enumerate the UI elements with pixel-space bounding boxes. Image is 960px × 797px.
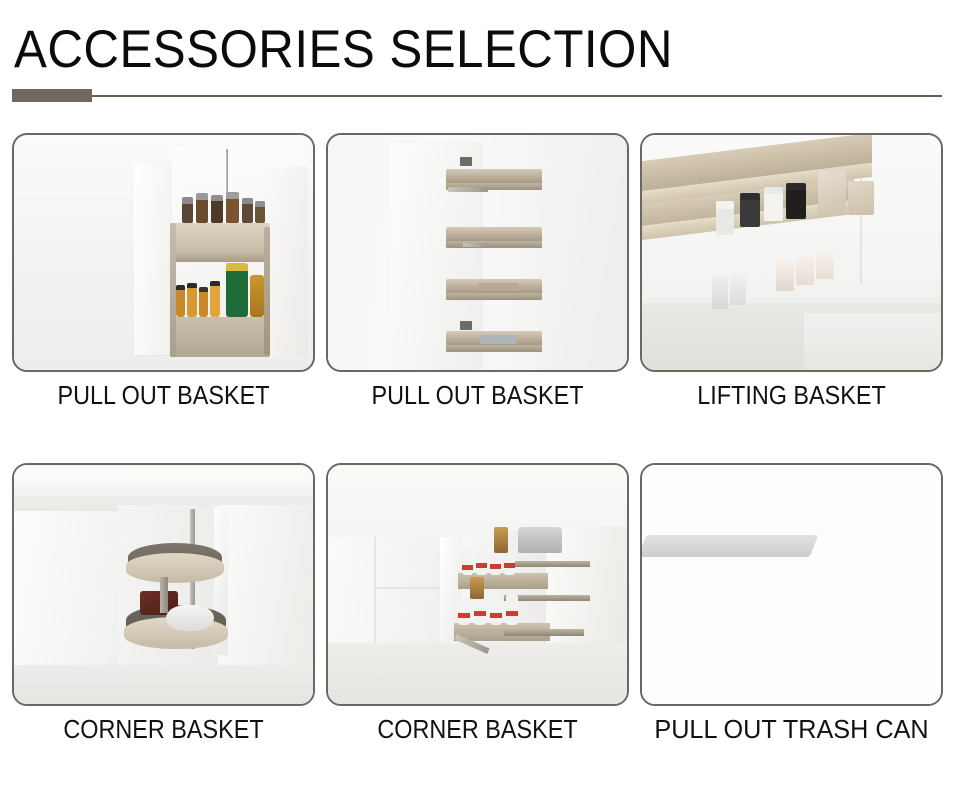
card-pull-out-trash-can[interactable] bbox=[640, 463, 943, 706]
accessory-cell: CORNER BASKET bbox=[12, 463, 315, 746]
card-caption: PULL OUT TRASH CAN bbox=[645, 712, 939, 746]
card-caption: LIFTING BASKET bbox=[655, 378, 928, 412]
gallery-row: CORNER BASKET bbox=[12, 463, 944, 746]
title-divider bbox=[12, 88, 942, 104]
card-pull-out-basket-1[interactable] bbox=[12, 133, 315, 372]
image-lifting-basket bbox=[642, 135, 941, 370]
page-title: ACCESSORIES SELECTION bbox=[14, 20, 673, 80]
accessories-grid: PULL OUT BASKET bbox=[12, 133, 944, 746]
gallery-row: PULL OUT BASKET bbox=[12, 133, 944, 412]
image-corner-basket-2 bbox=[328, 465, 627, 704]
accessory-cell: PULL OUT BASKET bbox=[326, 133, 629, 412]
card-caption: CORNER BASKET bbox=[27, 712, 300, 746]
image-pull-out-basket-1 bbox=[14, 135, 313, 370]
accessory-cell: LIFTING BASKET bbox=[640, 133, 943, 412]
card-caption: PULL OUT BASKET bbox=[341, 378, 614, 412]
accessory-cell: CORNER BASKET bbox=[326, 463, 629, 746]
image-corner-basket-1 bbox=[14, 465, 313, 704]
card-corner-basket-2[interactable] bbox=[326, 463, 629, 706]
divider-block bbox=[12, 89, 92, 102]
accessory-cell: PULL OUT BASKET bbox=[12, 133, 315, 412]
card-corner-basket-1[interactable] bbox=[12, 463, 315, 706]
page-header: ACCESSORIES SELECTION bbox=[0, 0, 960, 112]
card-caption: CORNER BASKET bbox=[341, 712, 614, 746]
image-pull-out-basket-2 bbox=[328, 135, 627, 370]
card-caption: PULL OUT BASKET bbox=[27, 378, 300, 412]
accessories-selection-page: ACCESSORIES SELECTION bbox=[0, 0, 960, 797]
divider-line bbox=[92, 95, 942, 97]
card-lifting-basket[interactable] bbox=[640, 133, 943, 372]
accessory-cell: PULL OUT TRASH CAN bbox=[640, 463, 943, 746]
card-pull-out-basket-2[interactable] bbox=[326, 133, 629, 372]
image-pull-out-trash-can bbox=[642, 465, 941, 704]
